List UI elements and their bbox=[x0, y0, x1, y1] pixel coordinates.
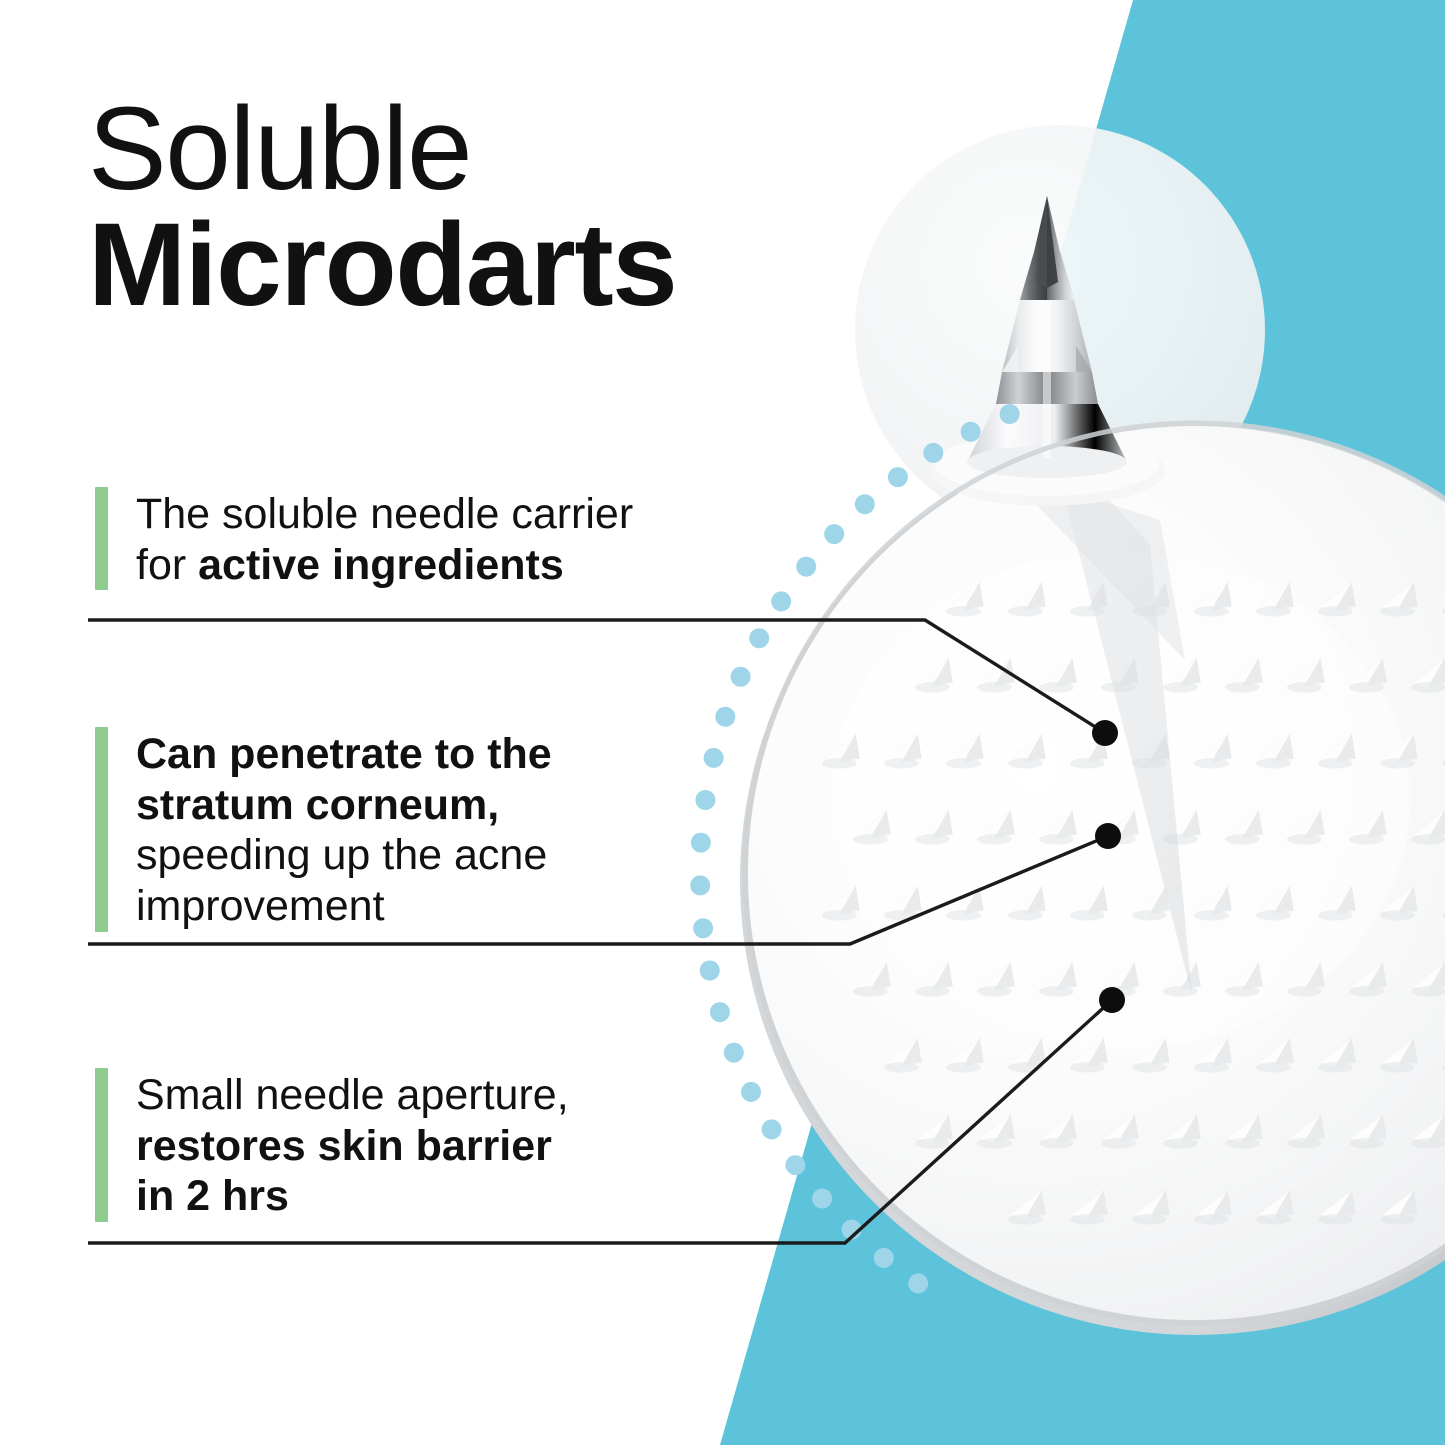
microneedle-glyph bbox=[1163, 962, 1201, 996]
microneedle-glyph bbox=[1225, 962, 1263, 996]
microneedle-glyph bbox=[1256, 1038, 1294, 1072]
arc-dot bbox=[741, 1082, 761, 1102]
microneedle-glyph bbox=[822, 886, 860, 920]
microneedle-glyph bbox=[1380, 734, 1418, 768]
microneedle-glyph bbox=[1070, 886, 1108, 920]
microneedle-glyph bbox=[946, 734, 984, 768]
microneedle-glyph bbox=[1380, 1190, 1418, 1224]
microneedle-glyph bbox=[1132, 886, 1170, 920]
microneedle-glyph bbox=[1132, 1038, 1170, 1072]
arc-dot bbox=[908, 1273, 928, 1293]
microneedle-glyph bbox=[1101, 658, 1139, 692]
microneedle-glyph bbox=[1256, 734, 1294, 768]
microneedle-glyph bbox=[1349, 962, 1387, 996]
callout-dot-1 bbox=[1092, 720, 1118, 746]
microneedle-glyph bbox=[1039, 658, 1077, 692]
microneedle-glyph bbox=[1318, 734, 1356, 768]
microneedle-glyph bbox=[1411, 810, 1445, 844]
microneedle-glyph bbox=[1070, 582, 1108, 616]
title-line-microdarts: Microdarts bbox=[88, 208, 848, 324]
microneedle-glyph bbox=[1132, 1190, 1170, 1224]
microneedle-glyph bbox=[1287, 1114, 1325, 1148]
microneedle-glyph bbox=[977, 810, 1015, 844]
microneedle-glyph bbox=[1318, 1038, 1356, 1072]
microneedle-glyph bbox=[1039, 962, 1077, 996]
microneedle-glyph bbox=[915, 962, 953, 996]
feature-text-2: Can penetrate to the stratum corneum, sp… bbox=[136, 727, 552, 932]
feature-accent-bar-2 bbox=[95, 727, 108, 932]
microneedle-glyph bbox=[946, 582, 984, 616]
callout-dot-3 bbox=[1099, 987, 1125, 1013]
patch-disc-highlight bbox=[830, 550, 1410, 1050]
feature-2-line-4: improvement bbox=[136, 882, 385, 930]
microneedle-glyph bbox=[1318, 886, 1356, 920]
leader-line-1 bbox=[88, 620, 1105, 733]
microneedle-glyph bbox=[853, 810, 891, 844]
microneedle-glyph bbox=[1008, 582, 1046, 616]
feature-3-line-3: in 2 hrs bbox=[136, 1172, 289, 1220]
arc-dot bbox=[724, 1043, 744, 1063]
microneedle-glyph bbox=[915, 810, 953, 844]
arc-dot bbox=[874, 1248, 894, 1268]
microneedle-glyph bbox=[1225, 1114, 1263, 1148]
patch-disc-rim bbox=[740, 425, 1445, 1335]
arc-dot bbox=[888, 467, 908, 487]
microneedle-glyph bbox=[884, 734, 922, 768]
feature-3-line-2: restores skin barrier bbox=[136, 1122, 552, 1170]
infographic-canvas: Soluble Microdarts The soluble needle ca… bbox=[0, 0, 1445, 1445]
feature-accent-bar-1 bbox=[95, 487, 108, 590]
needle-base-plate-top bbox=[935, 432, 1159, 496]
microneedle-glyph bbox=[1008, 734, 1046, 768]
microneedle-glyph bbox=[1349, 658, 1387, 692]
arc-dot bbox=[812, 1189, 832, 1209]
microneedle-glyph bbox=[1163, 810, 1201, 844]
microneedle-glyph bbox=[1132, 734, 1170, 768]
microneedle-glyph bbox=[1194, 1190, 1232, 1224]
patch-disc-face bbox=[748, 426, 1445, 1320]
feature-1-line-1: The soluble needle carrier bbox=[136, 490, 633, 538]
arc-dot bbox=[961, 422, 981, 442]
callout-dot-2 bbox=[1095, 823, 1121, 849]
microneedle-glyph bbox=[1163, 658, 1201, 692]
microneedle-glyph bbox=[1411, 658, 1445, 692]
microneedle-glyph bbox=[1287, 658, 1325, 692]
magnification-funnel bbox=[1048, 432, 1192, 995]
microneedle-glyph bbox=[1101, 810, 1139, 844]
microneedle-glyph bbox=[1411, 962, 1445, 996]
dotted-teal-arc bbox=[690, 404, 1019, 1293]
microneedle-glyph bbox=[1318, 582, 1356, 616]
microneedle-glyph bbox=[1256, 582, 1294, 616]
arc-dot bbox=[796, 557, 816, 577]
microneedle-glyph bbox=[1132, 582, 1170, 616]
feature-3-line-1: Small needle aperture, bbox=[136, 1071, 569, 1119]
feature-text-3: Small needle aperture, restores skin bar… bbox=[136, 1068, 569, 1222]
feature-2-line-1: Can penetrate to the bbox=[136, 730, 552, 778]
microneedle-glyph bbox=[884, 886, 922, 920]
microneedle-glyph bbox=[1070, 1038, 1108, 1072]
feature-1-line-2-bold: active ingredients bbox=[198, 541, 564, 589]
patch-outline-ring bbox=[745, 423, 1445, 1323]
microneedle-glyph bbox=[1380, 886, 1418, 920]
microneedle-glyph bbox=[1008, 1190, 1046, 1224]
microneedle-glyph bbox=[1194, 734, 1232, 768]
microneedle-glyph bbox=[884, 1038, 922, 1072]
microneedle-glyph bbox=[1070, 1190, 1108, 1224]
microneedle-glyph bbox=[1256, 886, 1294, 920]
microneedle-glyph bbox=[915, 658, 953, 692]
microneedle-glyph bbox=[1349, 810, 1387, 844]
microneedle-glyph bbox=[977, 1114, 1015, 1148]
microneedle-glyph bbox=[1318, 1190, 1356, 1224]
magnifier-backdrop-circle bbox=[855, 125, 1265, 535]
microneedle-glyph bbox=[915, 1114, 953, 1148]
microneedle-glyph bbox=[1194, 1038, 1232, 1072]
magnified-microdart-needle bbox=[967, 196, 1127, 478]
arc-dot bbox=[824, 524, 844, 544]
feature-block-3: Small needle aperture, restores skin bar… bbox=[95, 1068, 735, 1222]
arc-dot bbox=[731, 667, 751, 687]
microneedle-glyph bbox=[1411, 1114, 1445, 1148]
microneedle-glyph bbox=[1101, 1114, 1139, 1148]
callout-dots bbox=[1092, 720, 1125, 1013]
arc-dot bbox=[855, 494, 875, 514]
microneedle-glyph bbox=[1163, 1114, 1201, 1148]
microneedle-glyph bbox=[822, 734, 860, 768]
microneedle-glyph bbox=[977, 658, 1015, 692]
feature-text-1: The soluble needle carrier for active in… bbox=[136, 487, 633, 590]
title-line-soluble: Soluble bbox=[88, 92, 848, 208]
microneedle-glyph bbox=[1256, 1190, 1294, 1224]
microneedle-glyph bbox=[1039, 810, 1077, 844]
arc-dot bbox=[715, 707, 735, 727]
arc-dot bbox=[700, 961, 720, 981]
arc-dot bbox=[842, 1220, 862, 1240]
arc-dot bbox=[785, 1155, 805, 1175]
microneedle-glyph bbox=[1225, 810, 1263, 844]
microneedle-glyph bbox=[1194, 886, 1232, 920]
arc-dot bbox=[1000, 404, 1020, 424]
arc-dot bbox=[710, 1002, 730, 1022]
microneedle-glyph bbox=[1287, 810, 1325, 844]
microneedle-glyph bbox=[1194, 582, 1232, 616]
magnification-funnel-secondary bbox=[1003, 470, 1185, 660]
microneedle-grid bbox=[822, 582, 1445, 1224]
microneedle-glyph bbox=[1287, 962, 1325, 996]
arc-dot bbox=[749, 628, 769, 648]
arc-dot bbox=[762, 1119, 782, 1139]
microneedle-glyph bbox=[1380, 1038, 1418, 1072]
microneedle-glyph bbox=[1349, 1114, 1387, 1148]
microneedle-glyph bbox=[1039, 1114, 1077, 1148]
feature-2-line-3: speeding up the acne bbox=[136, 831, 547, 879]
page-title: Soluble Microdarts bbox=[88, 92, 848, 323]
microneedle-glyph bbox=[946, 1038, 984, 1072]
feature-2-line-2: stratum corneum, bbox=[136, 781, 499, 829]
feature-1-line-2-regular: for bbox=[136, 541, 198, 589]
microneedle-glyph bbox=[946, 886, 984, 920]
microneedle-glyph bbox=[1380, 582, 1418, 616]
microneedle-glyph bbox=[1008, 1038, 1046, 1072]
microneedle-glyph bbox=[1101, 962, 1139, 996]
feature-accent-bar-3 bbox=[95, 1068, 108, 1222]
microneedle-glyph bbox=[977, 962, 1015, 996]
microneedle-glyph bbox=[1008, 886, 1046, 920]
arc-dot bbox=[771, 591, 791, 611]
microneedle-glyph bbox=[853, 962, 891, 996]
microneedle-glyph bbox=[1225, 658, 1263, 692]
needle-base-plate bbox=[929, 434, 1165, 506]
arc-dot bbox=[923, 443, 943, 463]
feature-block-1: The soluble needle carrier for active in… bbox=[95, 487, 735, 590]
feature-block-2: Can penetrate to the stratum corneum, sp… bbox=[95, 727, 735, 932]
microneedle-glyph bbox=[1070, 734, 1108, 768]
